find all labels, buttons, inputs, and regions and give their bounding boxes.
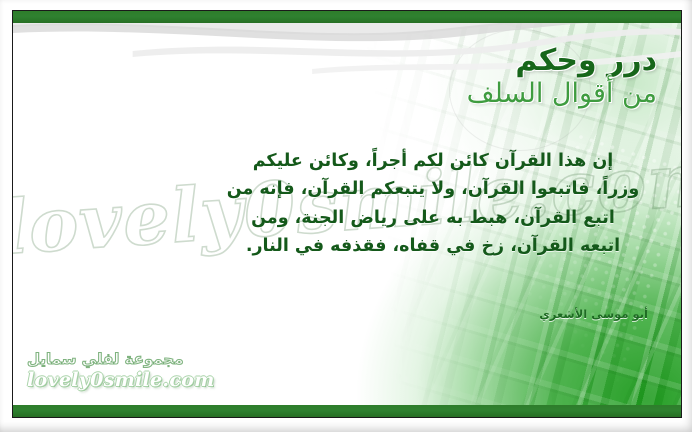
footer-brand: مجموعة لفلي سمايل lovely0smile.com bbox=[27, 350, 215, 391]
brand-website: lovely0smile.com bbox=[27, 369, 215, 391]
quote-line: اتبع القرآن، هبط به على رياض الجنة، ومن bbox=[213, 204, 653, 232]
quote-line: اتبعه القرآن، زخ في قفاه، فقذفه في النار… bbox=[213, 232, 653, 260]
brand-arabic-name: مجموعة لفلي سمايل bbox=[27, 350, 215, 368]
bottom-green-bar bbox=[13, 405, 681, 417]
greeting-card: lovely0smile.com درر وحكم من أقوال السلف… bbox=[12, 10, 682, 418]
card-header: درر وحكم من أقوال السلف bbox=[467, 45, 657, 108]
page-title: درر وحكم bbox=[467, 45, 657, 77]
page-canvas: lovely0smile.com درر وحكم من أقوال السلف… bbox=[0, 0, 692, 432]
quote-line: إن هذا القرآن كائن لكم أجراً، وكائن عليك… bbox=[213, 147, 653, 175]
top-green-bar bbox=[13, 11, 681, 23]
quote-attribution: أبو موسى الأشعري bbox=[539, 307, 648, 321]
quote-line: وزراً، فاتبعوا القرآن، ولا يتبعكم القرآن… bbox=[213, 175, 653, 203]
page-subtitle: من أقوال السلف bbox=[467, 79, 657, 109]
quote-text: إن هذا القرآن كائن لكم أجراً، وكائن عليك… bbox=[213, 147, 653, 260]
